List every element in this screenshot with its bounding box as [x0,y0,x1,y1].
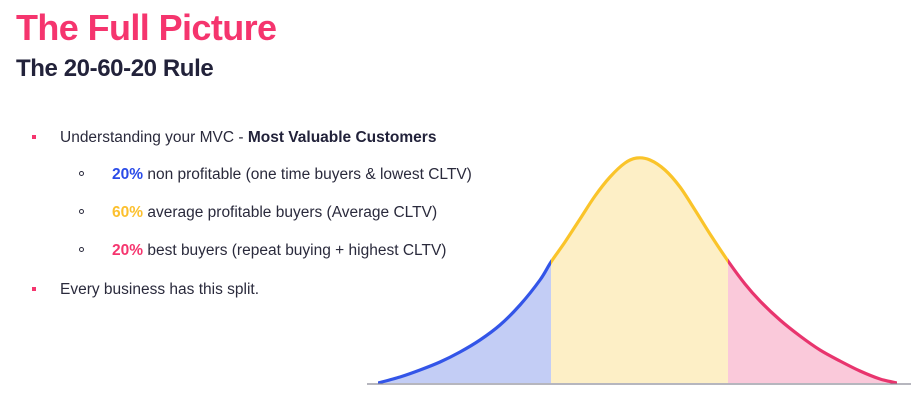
bell-curve-svg [355,140,919,414]
page-subtitle: The 20-60-20 Rule [16,54,213,84]
circle-bullet-icon [79,171,84,176]
percent-value: 20% [112,166,143,183]
page-title: The Full Picture [16,6,276,50]
square-bullet-icon [32,287,36,291]
list-item-label: Every business has this split. [60,280,259,300]
list-item-lead: Every business has this split. [60,281,259,298]
list-item-lead: Understanding your MVC - [60,129,248,146]
slide-canvas: The Full Picture The 20-60-20 Rule Under… [0,0,919,414]
circle-bullet-icon [79,209,84,214]
percent-value: 60% [112,204,143,221]
bell-curve-chart [355,140,919,414]
percent-value: 20% [112,242,143,259]
circle-bullet-icon [79,247,84,252]
square-bullet-icon [32,135,36,139]
